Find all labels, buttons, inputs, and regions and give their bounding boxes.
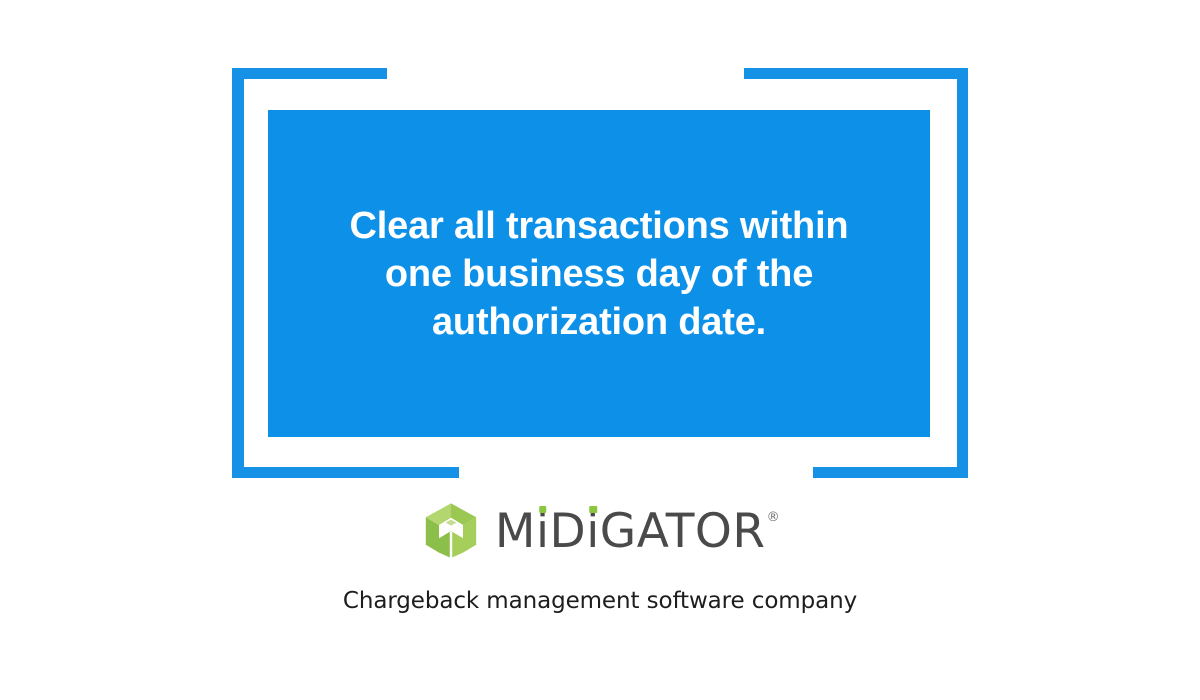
bracket-top-left-horizontal (232, 68, 387, 79)
bracket-top-right-horizontal (744, 68, 968, 79)
bracket-bottom-right-horizontal (813, 467, 968, 478)
wordmark-letter-i-2: i (586, 508, 600, 555)
tagline-text: Chargeback management software company (0, 588, 1200, 614)
slide-canvas: Clear all transactions within one busine… (0, 0, 1200, 700)
midigator-cube-icon (421, 501, 481, 561)
quote-text: Clear all transactions within one busine… (299, 202, 899, 346)
brand-logo-lockup: M i D i GATOR ® (0, 498, 1200, 564)
wordmark-letter-i-1: i (536, 508, 550, 555)
quote-panel: Clear all transactions within one busine… (268, 110, 930, 437)
wordmark-letter-m: M (495, 508, 536, 555)
brand-wordmark: M i D i GATOR ® (495, 508, 779, 555)
wordmark-letter-d: D (550, 508, 587, 555)
bracket-left-vertical (232, 68, 244, 467)
wordmark-letters-gator: GATOR (600, 508, 766, 555)
bracket-bottom-left-horizontal (232, 467, 459, 478)
registered-trademark-symbol: ® (767, 511, 781, 524)
bracket-right-vertical (957, 68, 968, 467)
